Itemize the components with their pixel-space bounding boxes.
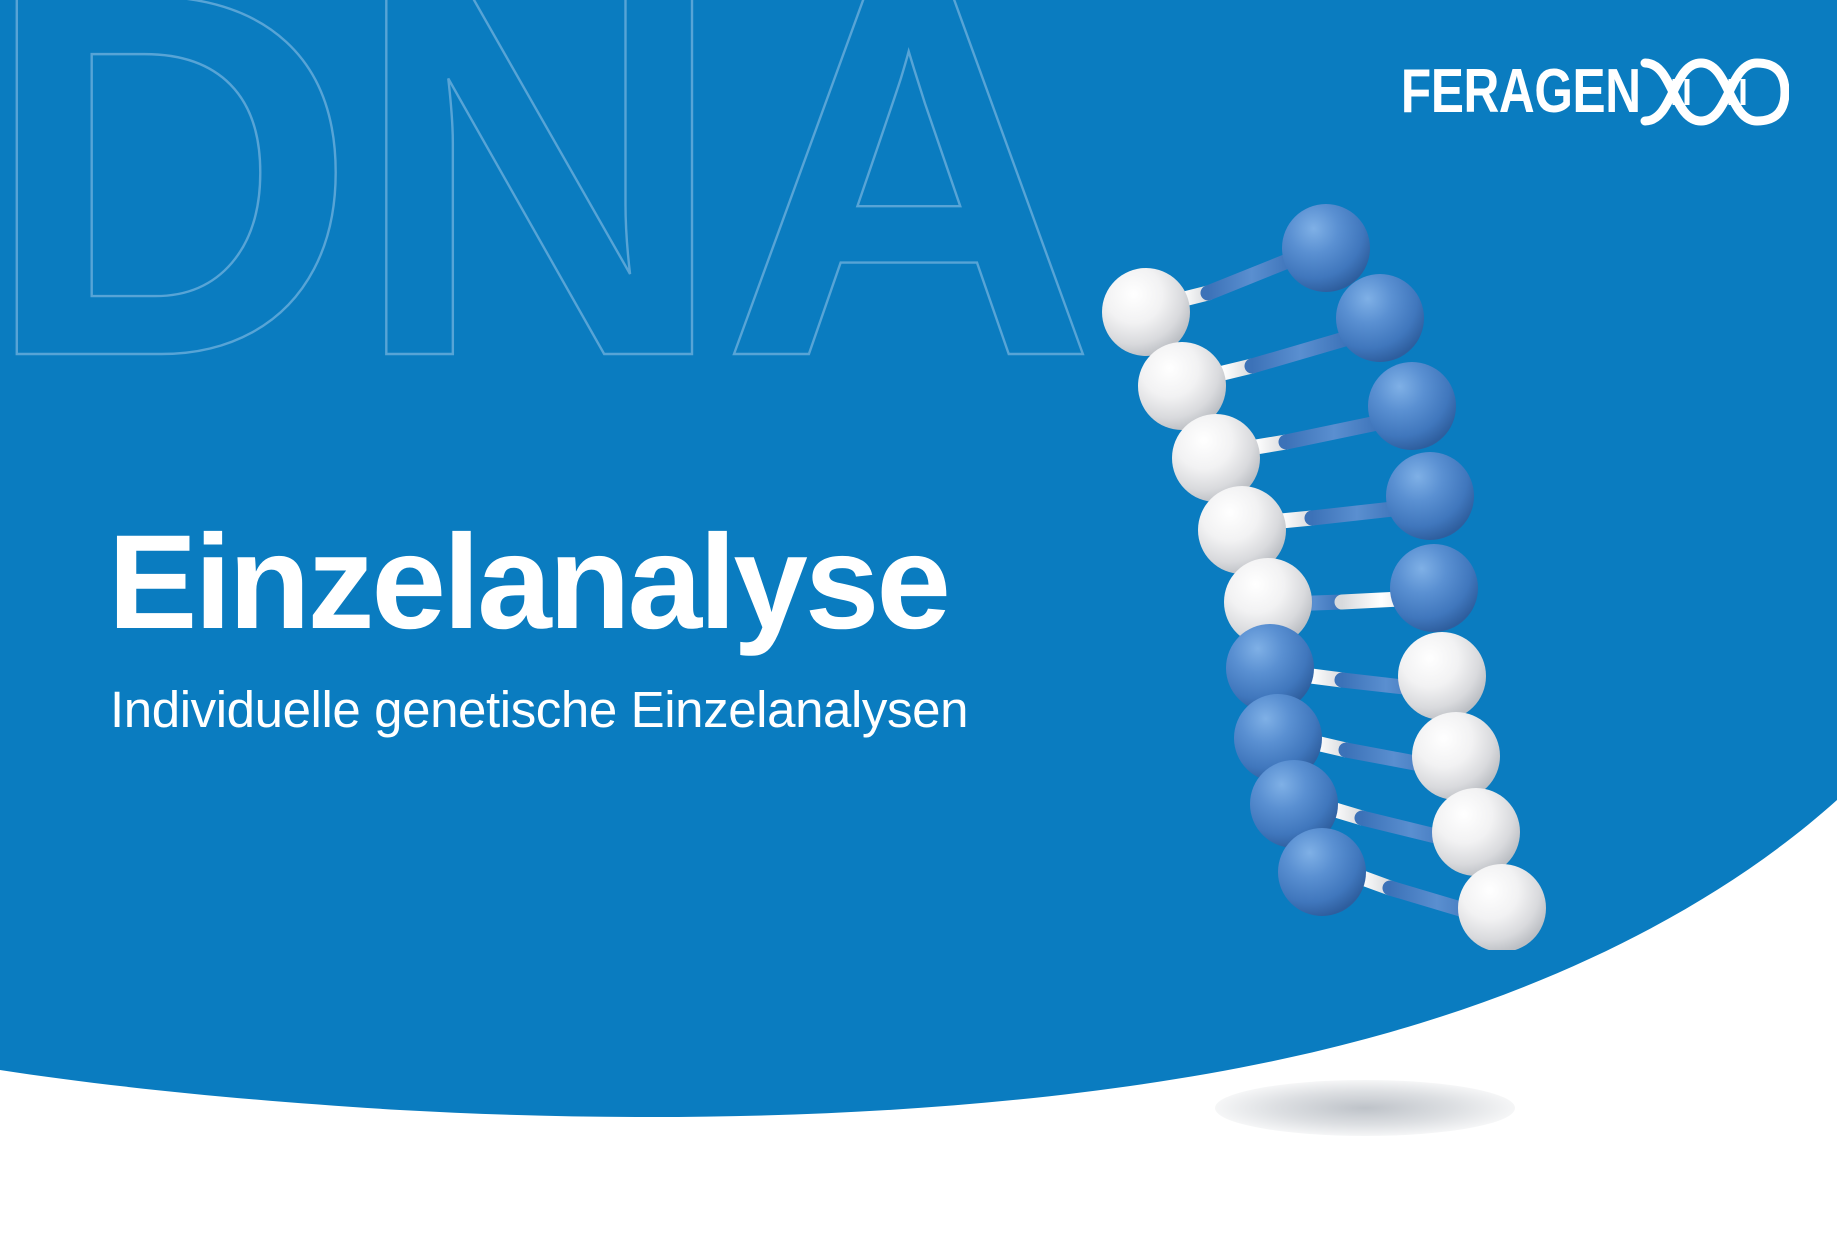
feragen-logo[interactable]: FERAGEN	[1341, 55, 1789, 129]
page-title: Einzelanalyse	[108, 508, 1228, 658]
feragen-wordmark: FERAGEN	[1401, 61, 1641, 123]
hero-text-block: Einzelanalyse Individuelle genetische Ei…	[108, 508, 1228, 740]
dna-double-helix-logo-mark	[1639, 55, 1789, 129]
dna-einzelanalyse-banner: DNA FERAGEN	[0, 0, 1837, 1252]
page-subtitle: Individuelle genetische Einzelanalysen	[110, 680, 1228, 740]
